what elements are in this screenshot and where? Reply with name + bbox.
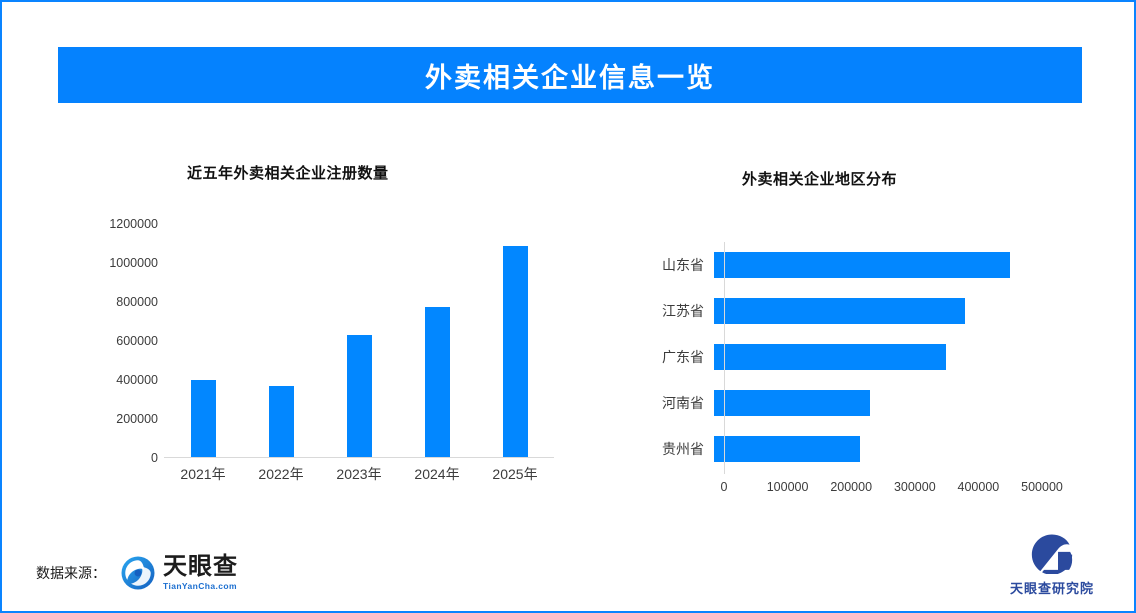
bar-column[interactable] bbox=[402, 224, 472, 457]
bar-山东省[interactable] bbox=[714, 252, 1010, 278]
y-axis-tick-label: 400000 bbox=[116, 373, 158, 387]
bar-column[interactable] bbox=[324, 224, 394, 457]
tianyancha-wordmark: 天眼查 TianYanCha.com bbox=[163, 554, 238, 591]
data-source-label: 数据来源： bbox=[36, 563, 106, 583]
bar-track bbox=[714, 334, 1042, 380]
data-source: 数据来源： 天眼查 TianYanCha.com bbox=[36, 554, 238, 591]
institute-name: 天眼查研究院 bbox=[1010, 578, 1094, 597]
title-banner: 外卖相关企业信息一览 bbox=[58, 47, 1082, 103]
regions-x-axis: 0100000200000300000400000500000 bbox=[724, 480, 1042, 498]
bar-row[interactable]: 广东省 bbox=[642, 334, 1042, 380]
y-axis-tick-label: 1000000 bbox=[109, 256, 158, 270]
y-axis-tick-label: 0 bbox=[151, 451, 158, 465]
tianyancha-name-en: TianYanCha.com bbox=[163, 581, 238, 591]
x-axis-tick-label: 2024年 bbox=[402, 464, 472, 484]
bar-2025年[interactable] bbox=[503, 246, 528, 457]
bar-2021年[interactable] bbox=[191, 380, 216, 457]
category-label: 江苏省 bbox=[642, 301, 714, 321]
category-label: 广东省 bbox=[642, 347, 714, 367]
bar-2023年[interactable] bbox=[347, 335, 372, 457]
bar-河南省[interactable] bbox=[714, 390, 870, 416]
bar-2022年[interactable] bbox=[269, 386, 294, 457]
x-axis-tick-label: 0 bbox=[721, 480, 728, 494]
x-axis-tick-label: 500000 bbox=[1021, 480, 1063, 494]
x-axis-tick-label: 2025年 bbox=[480, 464, 550, 484]
registrations-chart-title: 近五年外卖相关企业注册数量 bbox=[187, 162, 389, 183]
registrations-x-axis: 2021年2022年2023年2024年2025年 bbox=[164, 464, 554, 484]
y-axis-tick-label: 600000 bbox=[116, 334, 158, 348]
bar-track bbox=[714, 242, 1042, 288]
regions-chart-title: 外卖相关企业地区分布 bbox=[742, 168, 897, 189]
y-axis-tick-label: 200000 bbox=[116, 412, 158, 426]
institute-logo: 天眼查研究院 bbox=[997, 532, 1107, 597]
x-axis-tick-label: 200000 bbox=[830, 480, 872, 494]
registrations-y-axis: 120000010000008000006000004000002000000 bbox=[90, 224, 158, 458]
x-axis-tick-label: 2023年 bbox=[324, 464, 394, 484]
x-axis-tick-label: 100000 bbox=[767, 480, 809, 494]
registrations-bar-chart: 120000010000008000006000004000002000000 … bbox=[90, 224, 570, 499]
x-axis-tick-label: 2022年 bbox=[246, 464, 316, 484]
institute-roof-emblem-icon bbox=[1026, 532, 1078, 574]
category-label: 山东省 bbox=[642, 255, 714, 275]
bar-广东省[interactable] bbox=[714, 344, 946, 370]
x-axis-tick-label: 400000 bbox=[958, 480, 1000, 494]
registrations-plot-area bbox=[164, 224, 554, 458]
regions-axis-line bbox=[724, 242, 725, 474]
category-label: 河南省 bbox=[642, 393, 714, 413]
regions-bar-chart: 山东省江苏省广东省河南省贵州省 010000020000030000040000… bbox=[642, 242, 1062, 507]
x-axis-tick-label: 2021年 bbox=[168, 464, 238, 484]
tianyancha-name-cn: 天眼查 bbox=[163, 554, 238, 578]
bar-column[interactable] bbox=[480, 224, 550, 457]
bar-江苏省[interactable] bbox=[714, 298, 965, 324]
bar-track bbox=[714, 288, 1042, 334]
infographic-page: 外卖相关企业信息一览 近五年外卖相关企业注册数量 120000010000008… bbox=[0, 0, 1136, 613]
bar-row[interactable]: 江苏省 bbox=[642, 288, 1042, 334]
tianyancha-logo: 天眼查 TianYanCha.com bbox=[120, 554, 238, 591]
bar-row[interactable]: 贵州省 bbox=[642, 426, 1042, 472]
bar-track bbox=[714, 426, 1042, 472]
tianyancha-swirl-icon bbox=[120, 555, 156, 591]
bar-column[interactable] bbox=[246, 224, 316, 457]
category-label: 贵州省 bbox=[642, 439, 714, 459]
bar-track bbox=[714, 380, 1042, 426]
bar-贵州省[interactable] bbox=[714, 436, 860, 462]
y-axis-tick-label: 800000 bbox=[116, 295, 158, 309]
bar-row[interactable]: 山东省 bbox=[642, 242, 1042, 288]
bar-row[interactable]: 河南省 bbox=[642, 380, 1042, 426]
page-title: 外卖相关企业信息一览 bbox=[425, 56, 715, 95]
bar-column[interactable] bbox=[168, 224, 238, 457]
x-axis-tick-label: 300000 bbox=[894, 480, 936, 494]
bar-2024年[interactable] bbox=[425, 307, 450, 457]
y-axis-tick-label: 1200000 bbox=[109, 217, 158, 231]
regions-plot-area: 山东省江苏省广东省河南省贵州省 bbox=[642, 242, 1042, 466]
